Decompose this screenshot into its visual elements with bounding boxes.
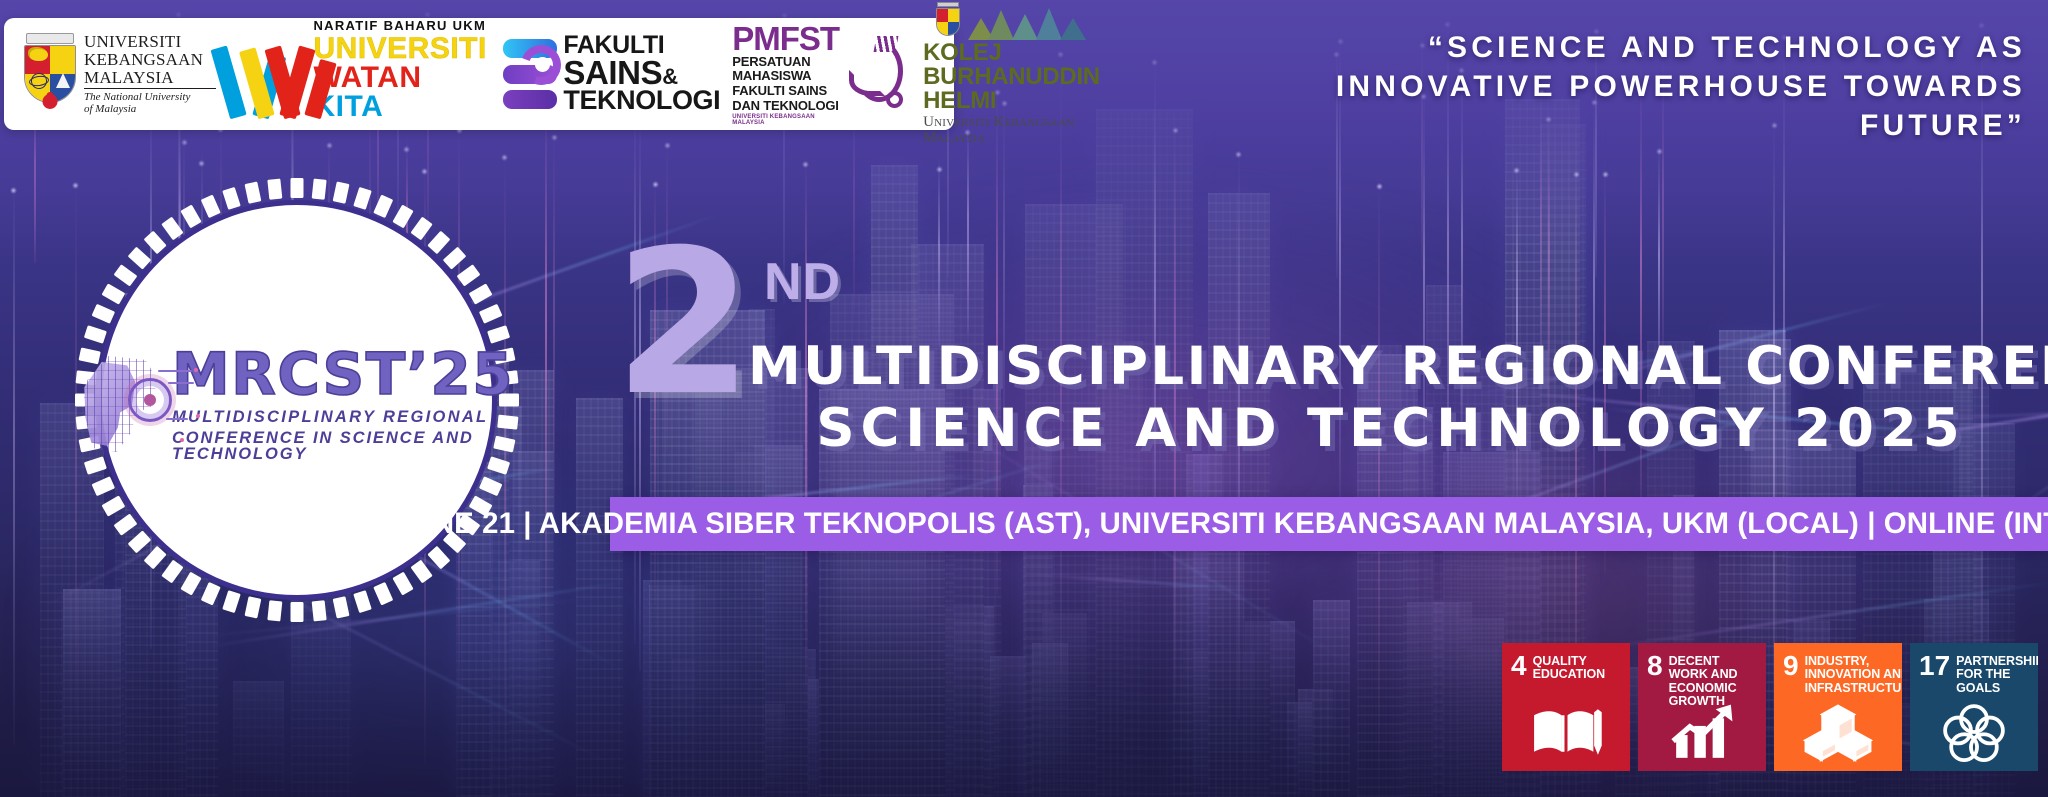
title-line-1: MULTIDISCIPLINARY REGIONAL CONFERENCE IN (748, 340, 2034, 394)
sdg-badge-header: 8DECENT WORK AND ECONOMIC GROWTH (1647, 653, 1758, 708)
sdg-badge-4: 4QUALITY EDUCATION (1502, 643, 1630, 771)
watan-tagline: NARATIF BAHARU UKM (313, 19, 491, 32)
sdg-badge-8: 8DECENT WORK AND ECONOMIC GROWTH (1638, 643, 1766, 771)
emblem-dash (222, 187, 241, 210)
pmfst-line1: PERSATUAN (732, 55, 842, 70)
emblem-dash (392, 572, 413, 596)
emblem-dash (312, 179, 327, 200)
pmfst-acronym: PMFST (732, 22, 842, 55)
emblem-dash (222, 590, 241, 613)
logo-pmfst: PMFST PERSATUAN MAHASISWA FAKULTI SAINS … (726, 27, 905, 121)
logo-universiti-watan-kita: NARATIF BAHARU UKM UNIVERSITI WATAN KITA (222, 27, 493, 121)
emblem-dash (392, 204, 413, 228)
emblem-dash (373, 195, 393, 219)
pmfst-line4: DAN TEKNOLOGI (732, 99, 842, 114)
emblem-dash (180, 572, 201, 596)
conference-emblem: MRCST’25 MULTIDISCIPLINARY REGIONAL CONF… (62, 165, 532, 635)
ukm-divider (84, 88, 216, 89)
pmfst-microscope-icon (847, 34, 906, 114)
emblem-dash (201, 582, 221, 606)
emblem-dash (479, 476, 503, 496)
ukm-line2: KEBANGSAAN (84, 51, 216, 68)
emblem-dash (84, 325, 107, 344)
ukm-line1: UNIVERSITI (84, 33, 216, 50)
emblem-dash (373, 582, 393, 606)
venue-date-text: JUNE 21 | AKADEMIA SIBER TEKNOPOLIS (AST… (395, 507, 2048, 541)
pmfst-line3: FAKULTI SAINS (732, 84, 842, 99)
emblem-dash (353, 187, 372, 210)
emblem-dash (291, 602, 304, 622)
ukm-sub2: of Malaysia (84, 103, 216, 115)
ai-head-circuit-icon (80, 356, 164, 452)
sdg-number: 8 (1647, 653, 1663, 679)
growth-chart-arrow-icon (1664, 701, 1740, 763)
emblem-dash (333, 596, 350, 618)
kolej-crest-icon (935, 2, 961, 40)
sdg-number: 4 (1511, 653, 1527, 679)
emblem-dash (92, 476, 116, 496)
pmfst-line5: UNIVERSITI KEBANGSAAN MALAYSIA (732, 114, 842, 126)
conference-banner: UNIVERSITI KEBANGSAAN MALAYSIA The Natio… (0, 0, 2048, 797)
emblem-subtitle-line2: CONFERENCE IN SCIENCE AND TECHNOLOGY (172, 430, 514, 463)
ukm-line3: MALAYSIA (84, 69, 216, 86)
sdg-badge-header: 4QUALITY EDUCATION (1511, 653, 1622, 682)
sdg-label: INDUSTRY, INNOVATION AND INFRASTRUCTURE (1805, 653, 1902, 695)
fst-line2: SAINS& (563, 58, 720, 89)
double-w-icon (224, 41, 315, 121)
emblem-dash (201, 195, 221, 219)
emblem-dash (457, 264, 481, 286)
fst-s-mark-icon (503, 35, 559, 113)
emblem-dash (267, 179, 282, 200)
pmfst-line2: MAHASISWA (732, 69, 842, 84)
conference-tagline: “SCIENCE AND TECHNOLOGY AS INNOVATIVE PO… (1306, 28, 2026, 145)
kolej-mountain-icon (968, 6, 1088, 40)
stacked-cubes-icon (1800, 701, 1876, 763)
sdg-label: DECENT WORK AND ECONOMIC GROWTH (1669, 653, 1758, 708)
sdg-badge-17: 17PARTNERSHIPS FOR THE GOALS (1910, 643, 2038, 771)
fst-line3: TEKNOLOGI (563, 88, 720, 113)
sdg-badge-header: 9INDUSTRY, INNOVATION AND INFRASTRUCTURE (1783, 653, 1894, 695)
sdg-label: PARTNERSHIPS FOR THE GOALS (1956, 653, 2038, 695)
emblem-dash (410, 560, 432, 584)
emblem-dash (312, 600, 327, 621)
interlocking-circles-icon (1936, 701, 2012, 763)
emblem-subtitle-line1: MULTIDISCIPLINARY REGIONAL (172, 409, 514, 426)
logo-kolej-burhanuddin-helmi: KOLEJ BURHANUDDIN HELMI Universiti Keban… (911, 27, 1100, 121)
ukm-sub1: The National University (84, 91, 216, 103)
emblem-dash (353, 590, 372, 613)
emblem-dash (161, 560, 183, 584)
emblem-dash (333, 181, 350, 203)
venue-date-bar: JUNE 21 | AKADEMIA SIBER TEKNOPOLIS (AST… (610, 497, 2048, 551)
logo-ukm: UNIVERSITI KEBANGSAAN MALAYSIA The Natio… (16, 27, 216, 121)
emblem-dash (101, 495, 125, 516)
edition-suffix: ND (764, 252, 841, 312)
sdg-badge-row: 4QUALITY EDUCATION8DECENT WORK AND ECONO… (1502, 643, 2038, 771)
organizer-logo-strip: UNIVERSITI KEBANGSAAN MALAYSIA The Natio… (4, 18, 954, 130)
emblem-dash (427, 546, 450, 570)
open-book-pencil-icon (1528, 701, 1604, 763)
kolej-name: KOLEJ BURHANUDDIN HELMI (923, 41, 1100, 113)
emblem-acronym: MRCST’25 (172, 345, 514, 403)
logo-fakulti-sains-teknologi: FAKULTI SAINS& TEKNOLOGI (499, 27, 720, 121)
emblem-dash (92, 304, 116, 324)
emblem-dash (469, 283, 493, 304)
sdg-badge-9: 9INDUSTRY, INNOVATION AND INFRASTRUCTURE (1774, 643, 1902, 771)
ukm-crest-icon (22, 33, 78, 115)
emblem-dash (479, 304, 503, 324)
title-line-2: SCIENCE AND TECHNOLOGY 2025 (748, 402, 2034, 456)
emblem-dash (244, 181, 261, 203)
watan-line2: WATAN KITA (313, 64, 491, 121)
emblem-dash (267, 600, 282, 621)
sdg-number: 9 (1783, 653, 1799, 679)
sdg-label: QUALITY EDUCATION (1533, 653, 1622, 682)
emblem-dash (291, 178, 304, 198)
kolej-sub: Universiti Kebangsaan Malaysia (923, 114, 1100, 147)
sdg-badge-header: 17PARTNERSHIPS FOR THE GOALS (1919, 653, 2030, 695)
sdg-number: 17 (1919, 653, 1950, 679)
watan-line1: UNIVERSITI (313, 35, 491, 64)
edition-number: 2 (614, 224, 747, 424)
emblem-dash (244, 596, 261, 618)
